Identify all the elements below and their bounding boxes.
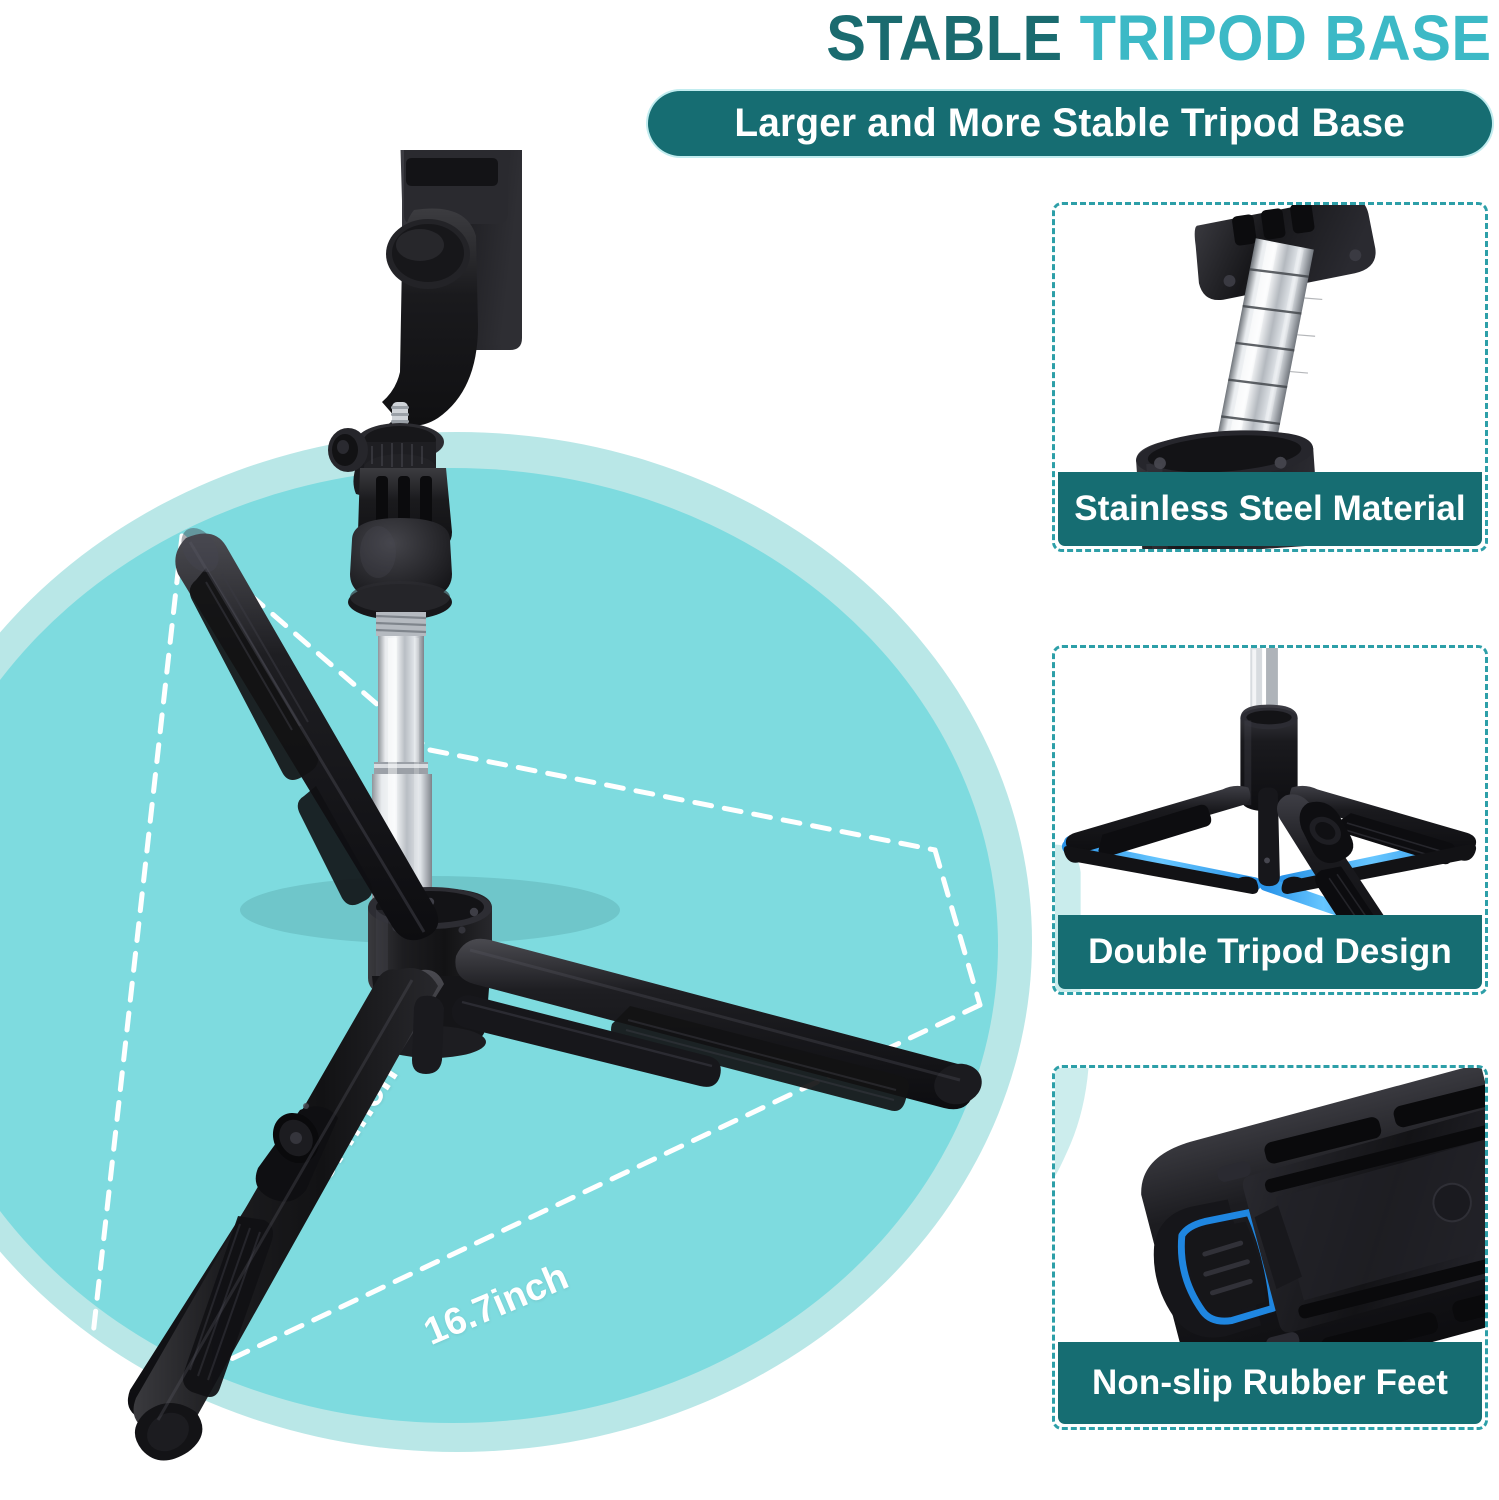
feature-panel-label-double-tripod: Double Tripod Design	[1058, 915, 1482, 989]
page-title: STABLE TRIPOD BASE	[105, 2, 1499, 74]
subtitle-banner-label: Larger and More Stable Tripod Base	[735, 101, 1406, 146]
tripod-inner-strut-left	[412, 996, 444, 1074]
main-product-stage: 9.4inch 16.7inch	[0, 150, 1040, 1500]
locking-knob	[328, 428, 368, 472]
feature-panel-non-slip-feet: Non-slip Rubber Feet	[1052, 1065, 1488, 1430]
page-title-part-2: TRIPOD BASE	[1080, 2, 1492, 74]
tripod-leg-lower-left	[128, 968, 444, 1461]
subtitle-banner: Larger and More Stable Tripod Base	[648, 91, 1492, 156]
feature-panel-stainless-steel: Stainless Steel Material	[1052, 202, 1488, 552]
selfie-stick-tripod-illustration	[0, 150, 1040, 1500]
feature-panel-label-stainless-steel: Stainless Steel Material	[1058, 472, 1482, 546]
page-title-part-1: STABLE	[826, 2, 1062, 74]
feature-panel-label-non-slip-feet: Non-slip Rubber Feet	[1058, 1342, 1482, 1424]
feature-panel-double-tripod: Double Tripod Design	[1052, 645, 1488, 995]
ball-head-group	[328, 402, 452, 620]
